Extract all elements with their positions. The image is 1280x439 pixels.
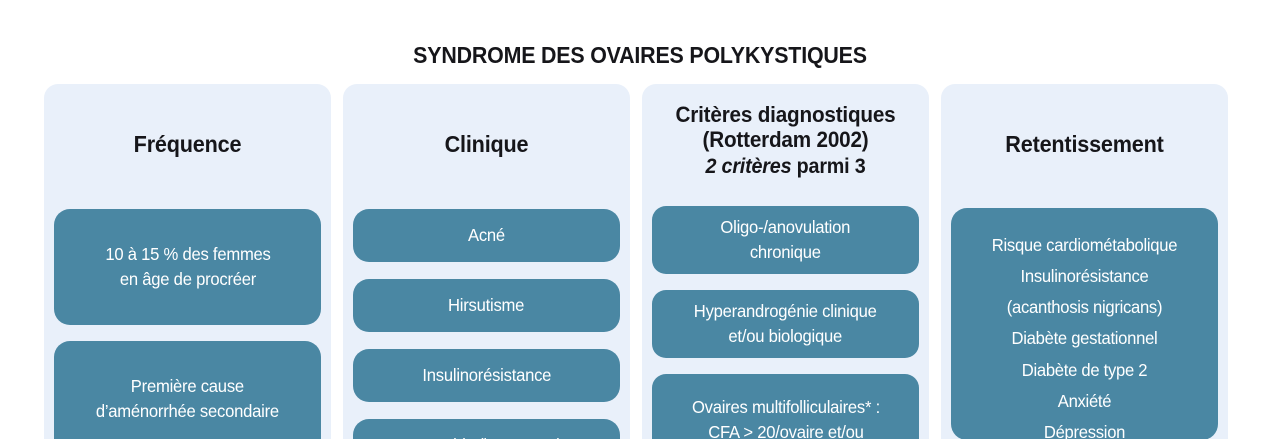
panel-clinique: Clinique Acné Hirsutisme Insulinorésista… (343, 84, 630, 439)
card-text: Oligo-/anovulation chronique (721, 215, 851, 266)
subtitle-emphasis: 2 critères (705, 155, 791, 178)
subtitle-rest: parmi 3 (791, 155, 865, 178)
card-critere-1: Oligo-/anovulation chronique (652, 206, 919, 274)
card-text: Acné (468, 223, 505, 248)
card-list-retentissement: Risque cardiométabolique Insulinorésista… (951, 208, 1218, 439)
list-item: Dépression (967, 417, 1202, 439)
list-item: Diabète gestationnel (967, 323, 1202, 354)
card-text: Hyperandrogénie clinique et/ou biologiqu… (694, 299, 877, 350)
list-item: Risque cardiométabolique (967, 230, 1202, 261)
card-line-1: Première cause (131, 376, 244, 396)
infographic-page: SYNDROME DES OVAIRES POLYKYSTIQUES Fréqu… (0, 0, 1280, 439)
card-line-2: en âge de procréer (119, 269, 255, 289)
card-text: Insulinorésistance (422, 363, 551, 388)
panel-retentissement: Retentissement Risque cardiométabolique … (941, 84, 1228, 439)
card-text: Surpoids (inconstant) (410, 433, 562, 439)
list-item: (acanthosis nigricans) (967, 292, 1202, 323)
card-line-2: chronique (750, 242, 821, 262)
list-item: Insulinorésistance (967, 261, 1202, 292)
card-line-2: d’aménorrhée secondaire (96, 401, 279, 421)
page-title: SYNDROME DES OVAIRES POLYKYSTIQUES (45, 42, 1235, 69)
card-clinique-4: Surpoids (inconstant) (353, 419, 620, 439)
columns-row: Fréquence 10 à 15 % des femmes en âge de… (44, 84, 1228, 439)
list-item: Diabète de type 2 (967, 355, 1202, 386)
card-retentissement-list: Risque cardiométabolique Insulinorésista… (951, 208, 1218, 439)
panel-title-frequence: Fréquence (62, 84, 313, 157)
panel-title-line-2: (Rotterdam 2002) (703, 127, 869, 152)
card-text: Première cause d’aménorrhée secondaire (96, 374, 279, 425)
panel-criteres-diagnostiques: Critères diagnostiques (Rotterdam 2002) … (642, 84, 929, 439)
card-clinique-1: Acné (353, 209, 620, 262)
card-line-1: Hyperandrogénie clinique (694, 301, 877, 321)
card-line-1: Oligo-/anovulation (721, 217, 851, 237)
card-list-clinique: Acné Hirsutisme Insulinorésistance Surpo… (353, 209, 620, 439)
card-frequence-1: 10 à 15 % des femmes en âge de procréer (54, 209, 321, 325)
card-critere-2: Hyperandrogénie clinique et/ou biologiqu… (652, 290, 919, 358)
panel-title-retentissement: Retentissement (959, 84, 1210, 157)
panel-subtitle-criteres: 2 critères parmi 3 (660, 155, 911, 179)
card-clinique-3: Insulinorésistance (353, 349, 620, 402)
card-clinique-2: Hirsutisme (353, 279, 620, 332)
card-text: 10 à 15 % des femmes en âge de procréer (105, 242, 270, 293)
panel-title-criteres: Critères diagnostiques (Rotterdam 2002) (660, 84, 911, 153)
card-list-frequence: 10 à 15 % des femmes en âge de procréer … (54, 209, 321, 439)
card-critere-3: Ovaires multifolliculaires* : CFA > 20/o… (652, 374, 919, 439)
card-line-2: CFA > 20/ovaire et/ou (708, 422, 863, 439)
card-list-criteres: Oligo-/anovulation chronique Hyperandrog… (652, 206, 919, 439)
card-line-1: 10 à 15 % des femmes (105, 244, 270, 264)
list-item: Anxiété (967, 386, 1202, 417)
panel-title-clinique: Clinique (361, 84, 612, 157)
card-line-2: et/ou biologique (729, 326, 843, 346)
card-line-1: Ovaires multifolliculaires* : (691, 397, 879, 417)
card-text: Hirsutisme (448, 293, 524, 318)
panel-title-line-1: Critères diagnostiques (676, 102, 896, 127)
card-frequence-2: Première cause d’aménorrhée secondaire (54, 341, 321, 439)
card-text: Ovaires multifolliculaires* : CFA > 20/o… (691, 395, 879, 439)
panel-frequence: Fréquence 10 à 15 % des femmes en âge de… (44, 84, 331, 439)
